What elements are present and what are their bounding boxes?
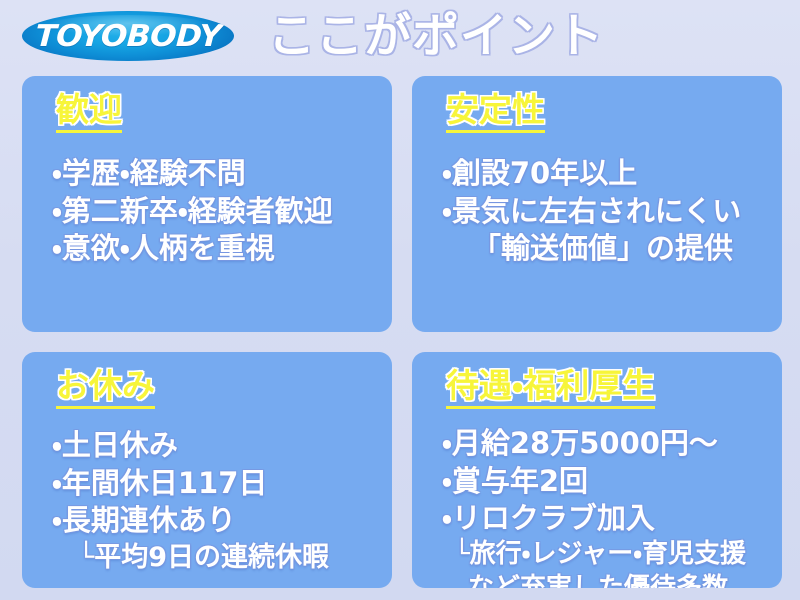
- list-item: ・意欲・人柄を重視: [52, 230, 374, 268]
- list-item-detail: └平均9日の連続休暇: [78, 540, 374, 575]
- page-title: ここがポイント: [268, 13, 604, 60]
- card-list-holidays: ・土日休み ・年間休日117日 ・長期連休あり └平均9日の連続休暇: [40, 427, 374, 575]
- list-item: ・創設70年以上: [442, 155, 764, 193]
- poster-header: TOYOBODY ここがポイント: [0, 0, 800, 72]
- card-list-benefits: ・月給28万5000円〜 ・賞与年2回 ・リロクラブ加入 └旅行・レジャー・育児…: [430, 425, 764, 588]
- list-item-continuation: など充実した優待多数: [468, 572, 764, 588]
- point-card-stability: 安定性 ・創設70年以上 ・景気に左右されにくい 「輸送価値」の提供: [412, 76, 782, 332]
- list-item: ・長期連休あり: [52, 502, 374, 540]
- list-item: ・土日休み: [52, 427, 374, 465]
- list-item: ・年間休日117日: [52, 465, 374, 503]
- card-title-holidays: お休み: [56, 368, 155, 409]
- point-card-benefits: 待遇・福利厚生 ・月給28万5000円〜 ・賞与年2回 ・リロクラブ加入 └旅行…: [412, 352, 782, 588]
- list-item: ・月給28万5000円〜: [442, 425, 764, 463]
- card-list-stability: ・創設70年以上 ・景気に左右されにくい 「輸送価値」の提供: [430, 155, 764, 268]
- card-title-stability: 安定性: [446, 92, 545, 133]
- point-card-welcome: 歓迎 ・学歴・経験不問 ・第二新卒・経験者歓迎 ・意欲・人柄を重視: [22, 76, 392, 332]
- card-title-welcome: 歓迎: [56, 92, 122, 133]
- company-logo-text: TOYOBODY: [34, 19, 222, 54]
- toyobody-oval-logo-icon: TOYOBODY: [22, 11, 234, 61]
- point-card-holidays: お休み ・土日休み ・年間休日117日 ・長期連休あり └平均9日の連続休暇: [22, 352, 392, 588]
- list-item: ・リロクラブ加入: [442, 500, 764, 538]
- list-item: ・学歴・経験不問: [52, 155, 374, 193]
- list-item-detail: └旅行・レジャー・育児支援: [454, 538, 764, 572]
- list-item: ・賞与年2回: [442, 463, 764, 501]
- card-title-benefits: 待遇・福利厚生: [446, 368, 655, 409]
- card-list-welcome: ・学歴・経験不問 ・第二新卒・経験者歓迎 ・意欲・人柄を重視: [40, 155, 374, 268]
- points-grid: 歓迎 ・学歴・経験不問 ・第二新卒・経験者歓迎 ・意欲・人柄を重視 安定性 ・創…: [22, 76, 782, 588]
- list-item: ・第二新卒・経験者歓迎: [52, 193, 374, 231]
- list-item-continuation: 「輸送価値」の提供: [472, 230, 764, 268]
- infographic-poster: TOYOBODY ここがポイント 歓迎 ・学歴・経験不問 ・第二新卒・経験者歓迎…: [0, 0, 800, 600]
- list-item: ・景気に左右されにくい: [442, 193, 764, 231]
